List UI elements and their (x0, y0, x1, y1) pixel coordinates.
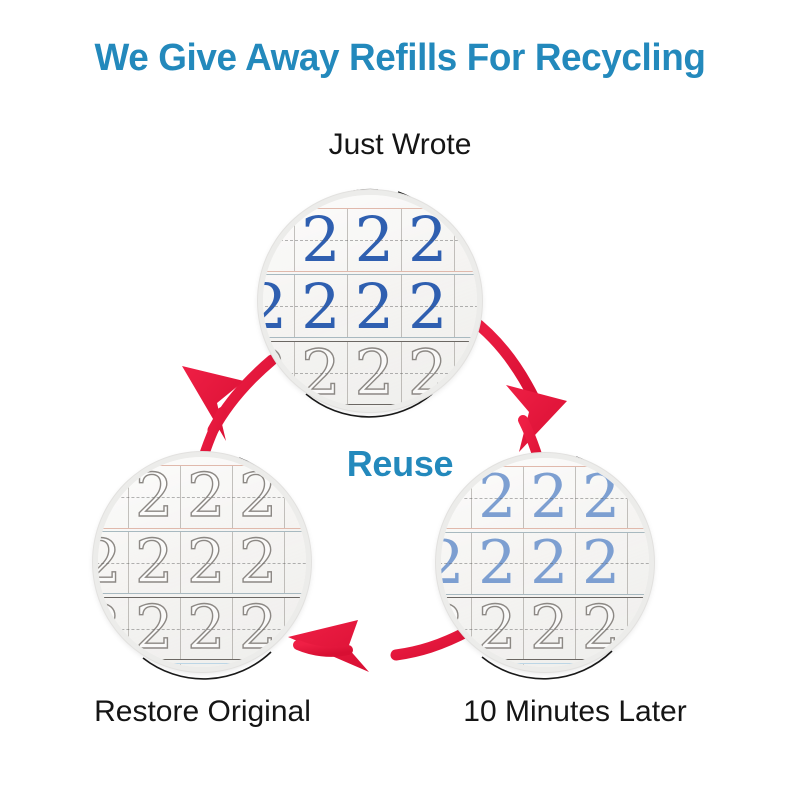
worksheet-cell (233, 664, 285, 672)
digit-glyph: 2 (530, 536, 568, 591)
worksheet-cell: 2 (233, 598, 285, 660)
page-title: We Give Away Refills For Recycling (12, 38, 788, 80)
worksheet-cell: 2 (295, 342, 348, 404)
worksheet-cell: 2 (348, 275, 401, 337)
digit-glyph: 2 (582, 536, 620, 591)
worksheet-cell: 2 (348, 209, 401, 271)
photo-restore-original[interactable]: 2 2 2 2 2 2 2 2 2 2 2 2 2 2 (93, 452, 311, 672)
worksheet-cell (402, 408, 455, 412)
worksheet-row: 2 2 2 2 (436, 532, 654, 595)
digit-glyph: 2 (478, 601, 516, 656)
digit-glyph: 2 (187, 535, 225, 590)
worksheet-cell: 2 (129, 664, 181, 672)
digit-glyph: 2 (135, 535, 173, 590)
digit-glyph: 2 (93, 601, 121, 656)
step-label-ten-minutes-later: 10 Minutes Later (400, 697, 750, 727)
worksheet-cell (285, 664, 311, 672)
worksheet-cell (285, 532, 311, 594)
digit-glyph: 2 (258, 344, 287, 401)
worksheet-cell (628, 598, 654, 659)
worksheet-cell: 2 (524, 598, 576, 659)
infographic-canvas: We Give Away Refills For Recycling (0, 0, 800, 800)
worksheet-cell: 2 (93, 664, 129, 672)
worksheet-cell: 2 (348, 408, 401, 412)
digit-glyph: 2 (355, 411, 394, 412)
digit-glyph: 2 (355, 211, 394, 268)
worksheet-row: 2 2 2 (258, 208, 482, 272)
worksheet-cell: 2 (402, 209, 455, 271)
step-label-restore-original: Restore Original (20, 697, 385, 727)
digit-glyph: 2 (258, 411, 287, 412)
worksheet-cell: 2 (576, 533, 628, 594)
worksheet-cell: 2 (402, 342, 455, 404)
digit-glyph: 2 (239, 535, 277, 590)
worksheet-cell: 2 (258, 408, 295, 412)
digit-glyph: 2 (187, 667, 225, 672)
worksheet-cell: 2 (524, 664, 576, 672)
worksheet-row: 2 2 2 2 (258, 341, 482, 405)
worksheet-cell: 2 (524, 533, 576, 594)
digit-glyph: 2 (93, 667, 121, 672)
worksheet-row: 2 2 2 2 (436, 597, 654, 660)
digit-glyph: 2 (187, 601, 225, 656)
digit-glyph: 2 (135, 601, 173, 656)
digit-glyph: 2 (530, 667, 568, 672)
worksheet-cell (455, 342, 482, 404)
digit-glyph: 2 (301, 344, 340, 401)
digit-glyph: 2 (408, 344, 447, 401)
step-label-just-wrote: Just Wrote (0, 130, 800, 160)
worksheet-cell: 2 (295, 209, 348, 271)
worksheet-row: 2 2 2 (258, 407, 482, 412)
worksheet-cell: 2 (576, 598, 628, 659)
worksheet-cell (258, 209, 295, 271)
worksheet-cell (285, 598, 311, 660)
worksheet-cell: 2 (181, 532, 233, 594)
worksheet-cell: 2 (436, 598, 472, 659)
worksheet-cell (455, 408, 482, 412)
digit-glyph: 2 (530, 601, 568, 656)
digit-glyph: 2 (135, 667, 173, 672)
digit-glyph: 2 (258, 278, 287, 335)
worksheet-cell: 2 (93, 532, 129, 594)
worksheet-cell: 2 (233, 532, 285, 594)
digit-glyph: 2 (93, 535, 121, 590)
worksheet-cell: 2 (436, 664, 472, 672)
worksheet-cell: 2 (93, 598, 129, 660)
worksheet-cell (628, 533, 654, 594)
digit-glyph: 2 (408, 278, 447, 335)
worksheet-cell: 2 (181, 664, 233, 672)
digit-glyph: 2 (355, 344, 394, 401)
worksheet-cell (455, 275, 482, 337)
worksheet-cell: 2 (258, 342, 295, 404)
digit-glyph: 2 (239, 601, 277, 656)
worksheet-cell: 2 (129, 598, 181, 660)
worksheet-cell: 2 (472, 598, 524, 659)
worksheet-cell: 2 (258, 275, 295, 337)
digit-glyph: 2 (301, 278, 340, 335)
digit-glyph: 2 (436, 667, 464, 672)
worksheet-row: 2 2 2 2 (258, 274, 482, 338)
worksheet-row: 2 2 2 (93, 663, 311, 672)
worksheet-cell (455, 209, 482, 271)
photo-ten-minutes-later[interactable]: 2 2 2 2 2 2 2 2 2 2 2 2 2 2 (436, 453, 654, 672)
digit-glyph: 2 (478, 667, 516, 672)
digit-glyph: 2 (436, 601, 464, 656)
photo-just-wrote[interactable]: 2 2 2 2 2 2 2 2 2 2 2 2 2 2 (258, 190, 482, 412)
worksheet-cell: 2 (129, 532, 181, 594)
digit-glyph: 2 (301, 411, 340, 412)
worksheet-cell: 2 (295, 408, 348, 412)
digit-glyph: 2 (582, 601, 620, 656)
worksheet-row: 2 2 2 (436, 663, 654, 672)
digit-glyph: 2 (355, 278, 394, 335)
worksheet-cell: 2 (348, 342, 401, 404)
digit-glyph: 2 (436, 536, 464, 591)
digit-glyph: 2 (408, 211, 447, 268)
digit-glyph: 2 (301, 211, 340, 268)
worksheet-cell: 2 (436, 533, 472, 594)
worksheet-cell (628, 664, 654, 672)
worksheet-row: 2 2 2 2 (93, 531, 311, 595)
worksheet-cell: 2 (472, 664, 524, 672)
worksheet-cell: 2 (472, 533, 524, 594)
worksheet-cell: 2 (181, 598, 233, 660)
digit-glyph: 2 (478, 536, 516, 591)
worksheet-cell (576, 664, 628, 672)
cycle-center-label: Reuse (0, 443, 800, 485)
worksheet-cell: 2 (295, 275, 348, 337)
worksheet-cell: 2 (402, 275, 455, 337)
worksheet-row: 2 2 2 2 (93, 597, 311, 661)
